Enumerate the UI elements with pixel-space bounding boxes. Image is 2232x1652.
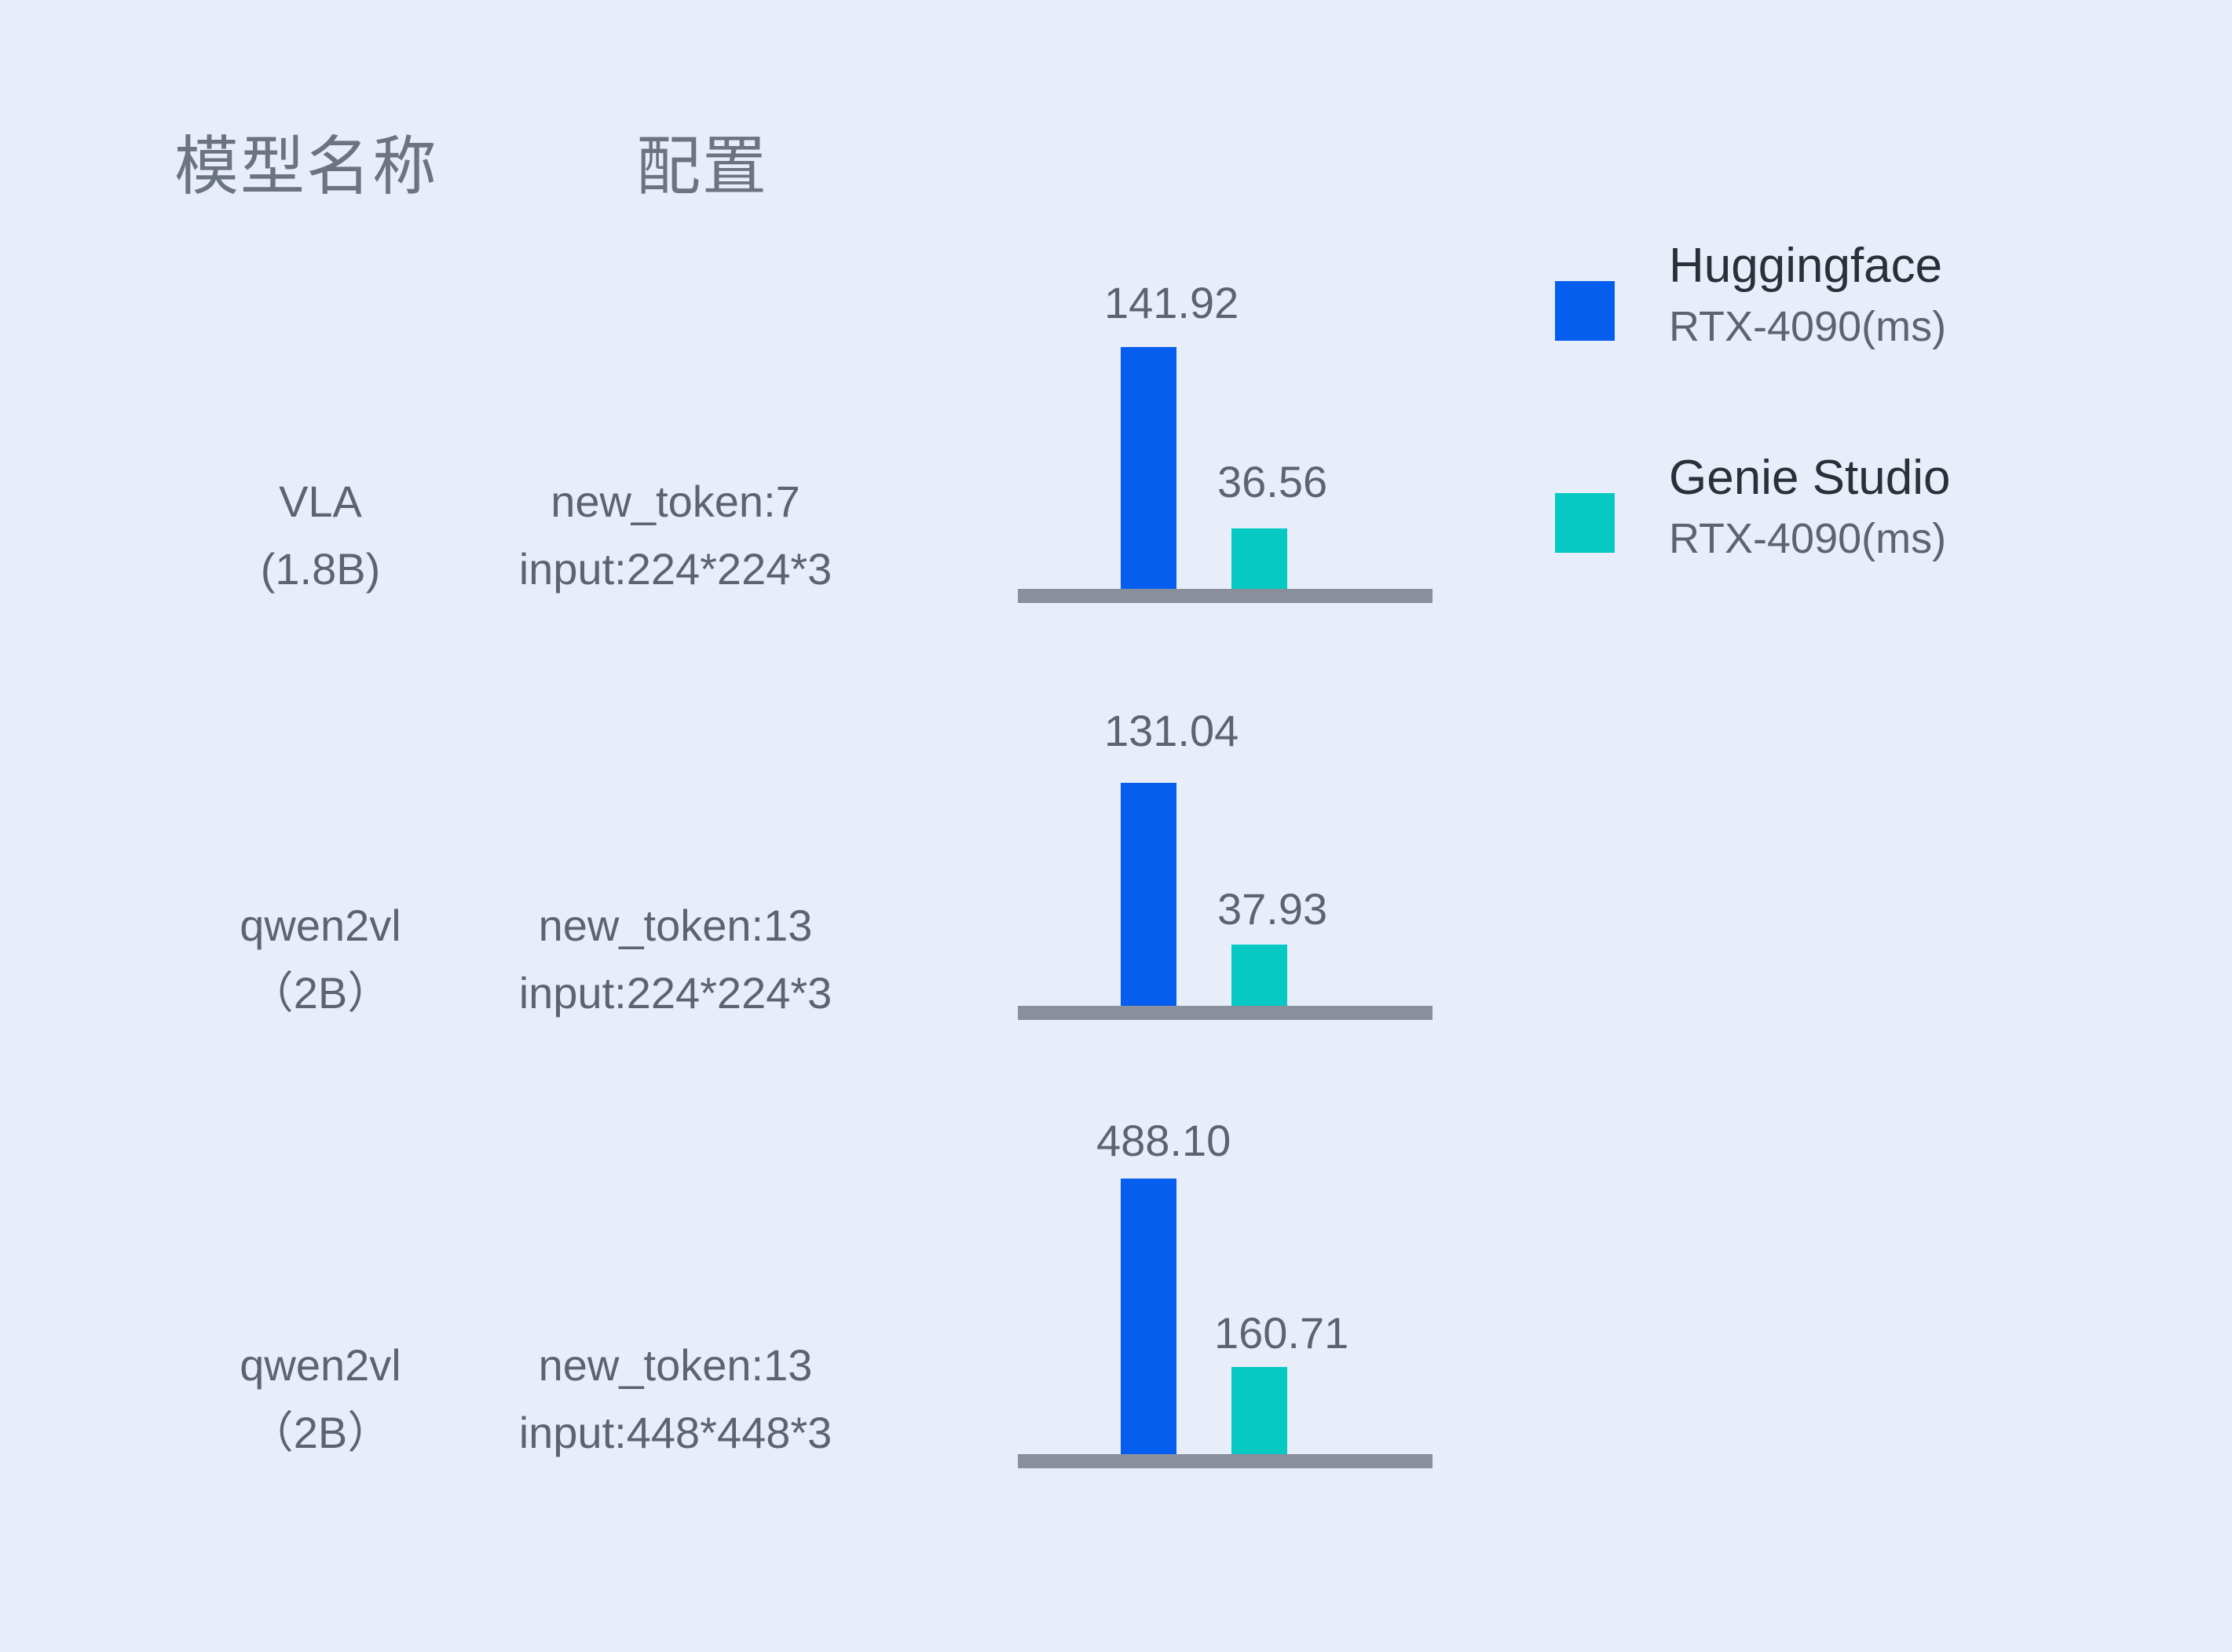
row-baseline-axis <box>1018 1454 1433 1468</box>
bar-huggingface <box>1121 783 1176 1006</box>
chart-legend: Huggingface RTX-4090(ms) Genie Studio RT… <box>1555 236 2152 597</box>
row-plot: 141.92 36.56 <box>1018 259 1442 605</box>
bar-huggingface <box>1121 347 1176 589</box>
bar-value-label-huggingface: 131.04 <box>1104 709 1239 753</box>
row-config: new_token:13 input:448*448*3 <box>456 1332 895 1467</box>
legend-swatch-blue-icon <box>1555 281 1615 341</box>
row-config-line2: input:448*448*3 <box>456 1399 895 1467</box>
row-config-line2: input:224*224*3 <box>456 535 895 603</box>
bar-value-label-genie-studio: 37.93 <box>1217 887 1327 931</box>
column-header-model-name: 模型名称 <box>174 135 438 199</box>
bar-value-label-genie-studio: 160.71 <box>1214 1311 1348 1355</box>
row-config: new_token:13 input:224*224*3 <box>456 892 895 1027</box>
row-config-line1: new_token:7 <box>456 468 895 535</box>
row-plot: 131.04 37.93 <box>1018 695 1442 1025</box>
bar-genie-studio <box>1231 1367 1287 1454</box>
row-config: new_token:7 input:224*224*3 <box>456 468 895 603</box>
bar-huggingface <box>1121 1179 1176 1461</box>
legend-item-genie-studio: Genie Studio RTX-4090(ms) <box>1555 448 2152 597</box>
legend-item-huggingface: Huggingface RTX-4090(ms) <box>1555 236 2152 385</box>
row-plot: 488.10 160.71 <box>1018 1111 1442 1480</box>
bar-genie-studio <box>1231 945 1287 1006</box>
row-baseline-axis <box>1018 1006 1433 1020</box>
row-config-line1: new_token:13 <box>456 1332 895 1399</box>
column-header-config: 配置 <box>636 135 768 199</box>
legend-text-genie-studio: Genie Studio RTX-4090(ms) <box>1669 448 2140 568</box>
bar-value-label-huggingface: 488.10 <box>1096 1119 1231 1163</box>
legend-swatch-teal-icon <box>1555 493 1615 553</box>
row-config-line2: input:224*224*3 <box>456 959 895 1027</box>
bar-genie-studio <box>1231 528 1287 589</box>
row-config-line1: new_token:13 <box>456 892 895 959</box>
legend-sublabel-genie-studio: RTX-4090(ms) <box>1669 509 2140 568</box>
row-baseline-axis <box>1018 589 1433 603</box>
legend-sublabel-huggingface: RTX-4090(ms) <box>1669 297 2140 356</box>
chart-canvas: 模型名称 配置 VLA (1.8B) new_token:7 input:224… <box>0 0 2232 1652</box>
legend-label-genie-studio: Genie Studio <box>1669 448 2140 509</box>
bar-value-label-huggingface: 141.92 <box>1104 281 1239 325</box>
legend-label-huggingface: Huggingface <box>1669 236 2140 297</box>
bar-value-label-genie-studio: 36.56 <box>1217 460 1327 504</box>
legend-text-huggingface: Huggingface RTX-4090(ms) <box>1669 236 2140 356</box>
